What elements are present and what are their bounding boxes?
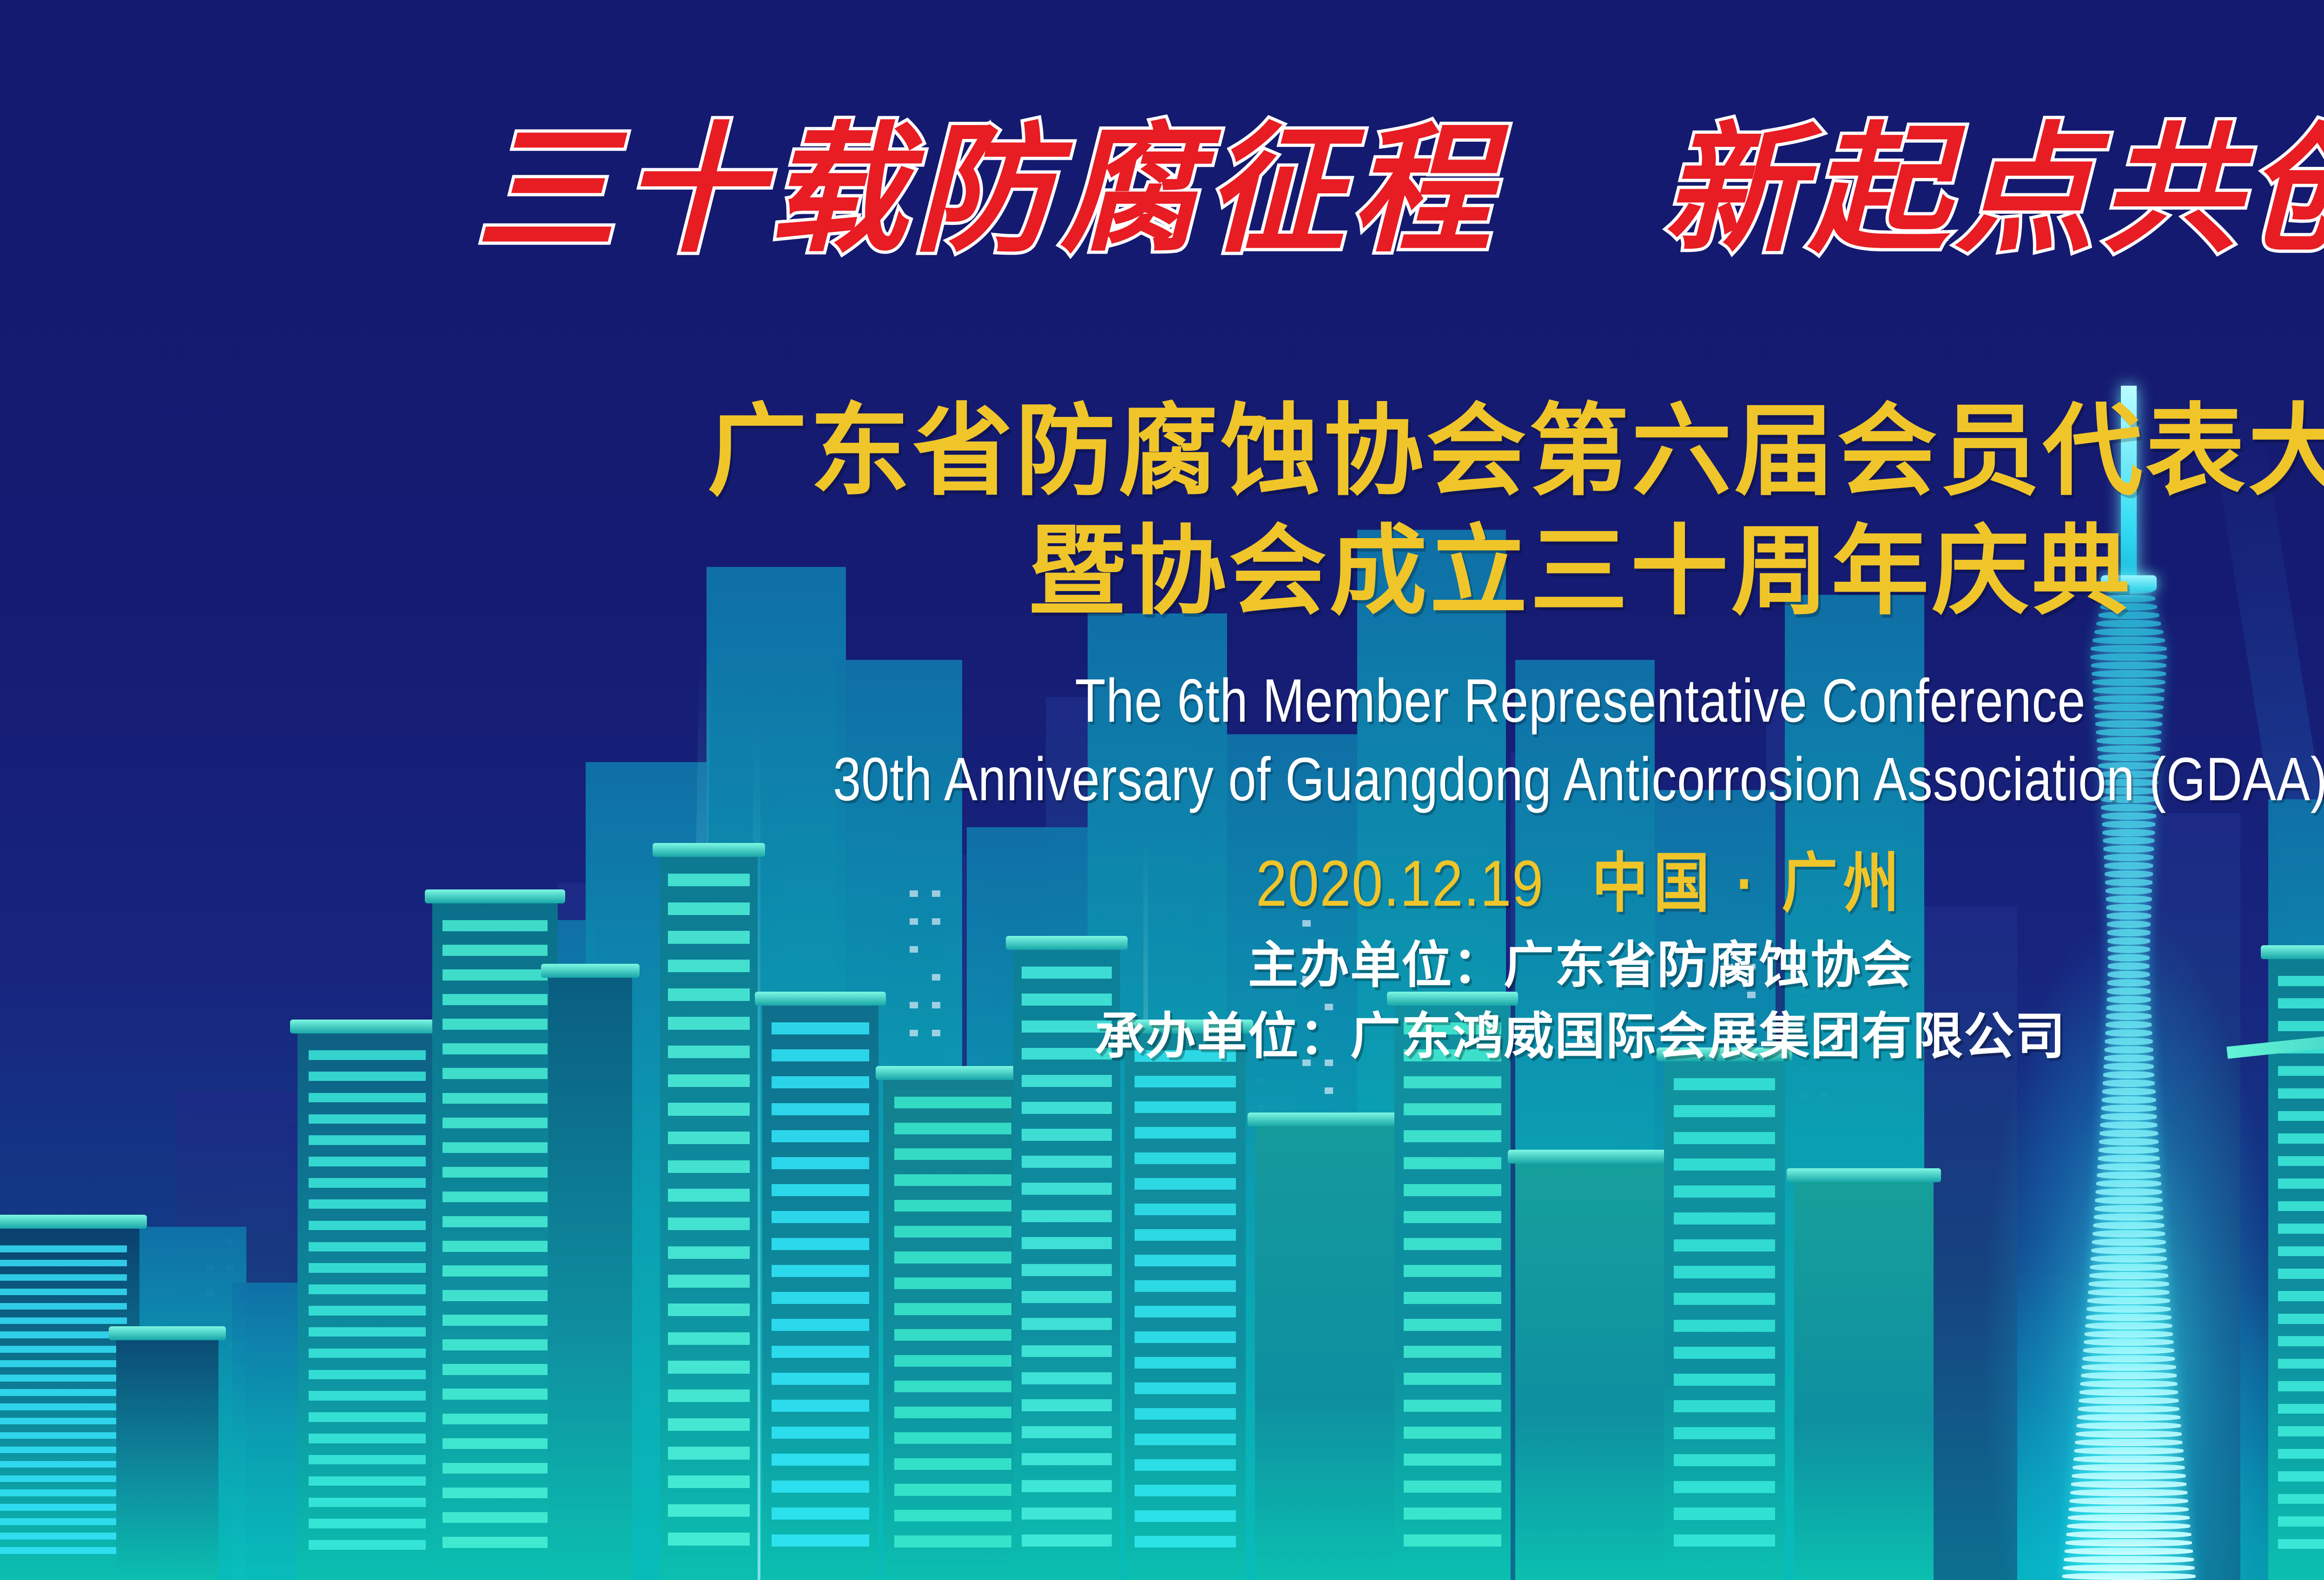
tower-ring (2080, 1380, 2178, 1388)
building-front (1125, 1032, 1246, 1580)
tower-ring (2082, 1355, 2175, 1363)
building-rooftop (1248, 1113, 1402, 1126)
tower-ring (2095, 1197, 2162, 1204)
organizer-line: 主办单位：广东省防腐蚀协会 (0, 929, 2324, 1001)
tower-ring (2097, 1163, 2160, 1171)
tower-ring (2093, 1230, 2165, 1238)
tower-ring (2066, 1539, 2192, 1547)
tower-ring (2103, 1080, 2155, 1087)
tower-ring (2071, 1481, 2186, 1488)
building-front (297, 1032, 437, 1580)
tower-ring (2089, 1280, 2169, 1288)
window-stripes (1125, 1032, 1246, 1580)
window-stripes (297, 1032, 437, 1580)
tower-ring (2075, 1439, 2182, 1446)
window-light (1325, 1087, 1333, 1094)
tower-ring (2096, 1188, 2162, 1196)
tower-ring (2086, 1305, 2171, 1313)
tower-ring (2099, 1138, 2159, 1145)
tower-ring (2069, 1506, 2189, 1513)
building-front (1394, 1004, 1511, 1580)
tower-ring (2092, 1238, 2166, 1246)
tower-ring (2102, 1096, 2156, 1104)
tower-ring (2078, 1405, 2179, 1413)
tower-ring (2081, 1372, 2177, 1379)
building-front (1255, 1125, 1394, 1580)
tower-ring (2082, 1363, 2176, 1371)
tower-ring (2070, 1497, 2188, 1505)
conference-banner: 三十载防腐征程 新起点共创辉煌 广东省防腐蚀协会第六届会员代表大会 暨协会成立三… (0, 0, 2324, 1580)
event-date-location: 2020.12.19中国 · 广州 (221, 831, 2324, 925)
tower-ring (2089, 1272, 2168, 1279)
tower-ring (2091, 645, 2167, 652)
tower-ring (2101, 1105, 2157, 1112)
tower-ring (2093, 1222, 2164, 1229)
tower-ring (2100, 1130, 2158, 1137)
page-title: 广东省防腐蚀协会第六届会员代表大会 暨协会成立三十周年庆典 (0, 390, 2324, 631)
building-front (116, 1338, 218, 1580)
tower-ring (2073, 1455, 2184, 1463)
tower-ring (2094, 1205, 2163, 1212)
tower-ring (2091, 1247, 2166, 1254)
tower-ring (2084, 1338, 2173, 1346)
building-front (762, 1004, 878, 1580)
tower-ring (2086, 1314, 2172, 1321)
tower-ring (2097, 1172, 2161, 1179)
tower-ring (2067, 1531, 2192, 1538)
tower-ring (2073, 1464, 2185, 1471)
title-line-2: 暨协会成立三十周年庆典 (0, 512, 2324, 631)
english-line-2: 30th Anniversary of Guangdong Anticorros… (284, 740, 2324, 819)
tower-ring (2077, 1414, 2180, 1421)
tower-ring (2090, 653, 2167, 661)
tower-ring (2101, 1113, 2157, 1120)
title-line-1: 广东省防腐蚀协会第六届会员代表大会 (0, 390, 2324, 512)
tower-ring (2085, 1322, 2172, 1330)
window-stripes (883, 1078, 1023, 1580)
tower-ring (2093, 637, 2165, 644)
tower-ring (2065, 1547, 2193, 1555)
window-stripes (1664, 1060, 1785, 1580)
building-front (883, 1078, 1023, 1580)
event-city: 中国 · 广州 (1592, 847, 1905, 920)
tower-ring (2080, 1389, 2178, 1396)
tower-ring (2062, 1573, 2196, 1580)
building-front (1664, 1060, 1785, 1580)
tower-ring (2088, 1289, 2169, 1296)
building-rooftop (109, 1326, 226, 1340)
tower-ring (2072, 1472, 2186, 1480)
window-stripes (762, 1004, 878, 1580)
tower-ring (2094, 1213, 2164, 1221)
tower-ring (2103, 1071, 2154, 1079)
tower-ring (2070, 1489, 2187, 1496)
tower-ring (2098, 1155, 2160, 1162)
tower-ring (2091, 1255, 2167, 1263)
tower-ring (2096, 1180, 2161, 1187)
tower-ring (2090, 1264, 2168, 1271)
english-line-1: The 6th Member Representative Conference (284, 662, 2324, 740)
building-front (1515, 1162, 1664, 1580)
tower-ring (2083, 1347, 2174, 1354)
calligraphy-headline: 三十载防腐征程 新起点共创辉煌 (0, 116, 2324, 263)
tower-ring (2099, 1146, 2159, 1154)
tower-ring (2102, 821, 2155, 828)
english-subtitle: The 6th Member Representative Conference… (284, 662, 2324, 819)
building-rooftop (0, 1215, 147, 1229)
event-date: 2020.12.19 (1256, 847, 1544, 920)
building-rooftop (1508, 1150, 1671, 1164)
tower-ring (2079, 1397, 2179, 1404)
tower-ring (2085, 1330, 2173, 1338)
tower-ring (2087, 1297, 2170, 1304)
tower-ring (2074, 1447, 2184, 1455)
building-front (1794, 1180, 1934, 1580)
tower-ring (2064, 1556, 2194, 1563)
tower-ring (2102, 1088, 2156, 1095)
tower-ring (2076, 1430, 2182, 1438)
building-rooftop (1787, 1168, 1941, 1182)
tower-ring (2063, 1564, 2194, 1572)
co-organizer-line: 承办单位：广东鸿威国际会展集团有限公司 (0, 1001, 2324, 1072)
tower-ring (2100, 1121, 2157, 1129)
window-stripes (1394, 1004, 1511, 1580)
organizer-block: 主办单位：广东省防腐蚀协会 承办单位：广东鸿威国际会展集团有限公司 (0, 929, 2324, 1072)
tower-ring (2068, 1514, 2190, 1521)
tower-ring (2077, 1422, 2181, 1429)
tower-ring (2067, 1522, 2190, 1530)
